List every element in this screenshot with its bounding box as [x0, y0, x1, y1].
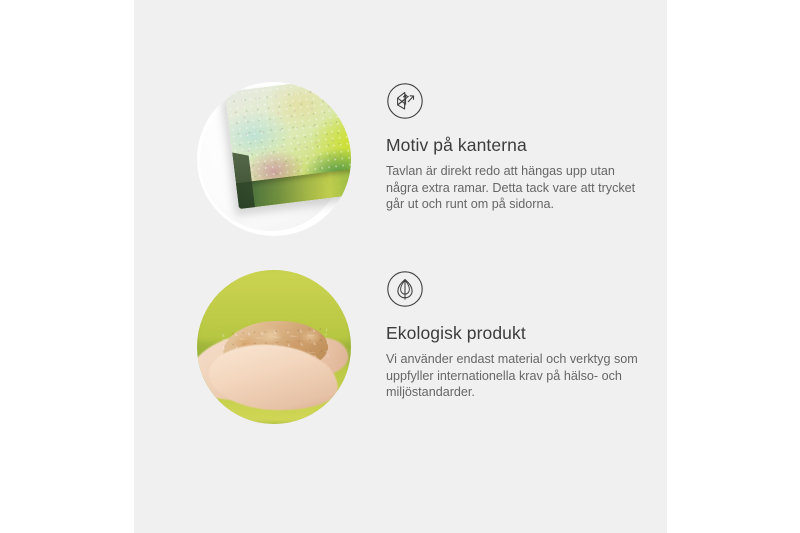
canvas-print-corner-photo [197, 82, 351, 236]
canvas-print-object [225, 82, 351, 209]
feature-text-column: Motiv på kanterna Tavlan är direkt redo … [386, 82, 656, 213]
content-panel: Motiv på kanterna Tavlan är direkt redo … [134, 0, 667, 533]
feature-body: Vi använder endast material och verktyg … [386, 351, 644, 401]
feature-title: Ekologisk produkt [386, 322, 656, 344]
leaf-icon [386, 270, 424, 308]
feature-title: Motiv på kanterna [386, 134, 656, 156]
feature-body: Tavlan är direkt redo att hängas upp uta… [386, 163, 644, 213]
page-canvas: Motiv på kanterna Tavlan är direkt redo … [0, 0, 800, 533]
canvas-wrapped-edges-icon [386, 82, 424, 120]
feature-text-column: Ekologisk produkt Vi använder endast mat… [386, 270, 656, 401]
wood-chips-in-hands-photo [197, 270, 351, 424]
